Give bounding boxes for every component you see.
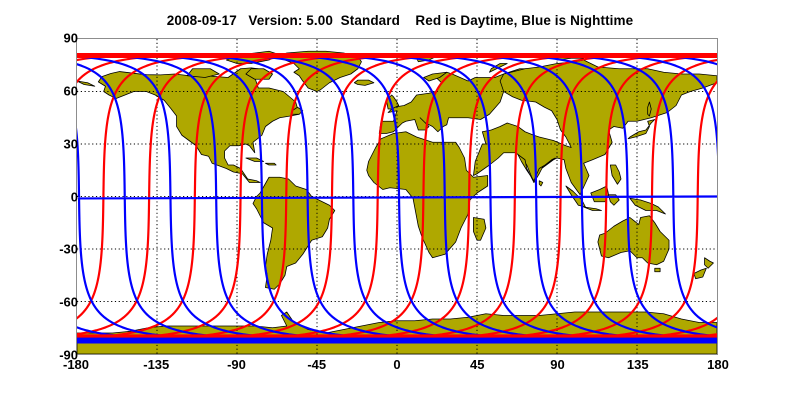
y-tick-label: -60	[59, 295, 78, 310]
x-tick-label: 180	[707, 357, 729, 372]
landmass-iceland	[354, 80, 374, 85]
x-tick-label: 135	[627, 357, 649, 372]
y-tick-label: 60	[64, 83, 78, 98]
x-tick-label: -135	[143, 357, 169, 372]
page-title: 2008-09-17 Version: 5.00 Standard Red is…	[0, 13, 800, 28]
ground-track-chart: 2008-09-17 Version: 5.00 Standard Red is…	[0, 0, 800, 400]
plot-svg	[77, 39, 717, 354]
landmass-sri-lanka	[539, 181, 543, 186]
x-tick-label: -90	[227, 357, 246, 372]
x-tick-label: 0	[393, 357, 400, 372]
y-tick-label: -30	[59, 242, 78, 257]
landmass-hispaniola	[265, 163, 276, 165]
y-tick-label: 90	[64, 31, 78, 46]
y-tick-label: 30	[64, 136, 78, 151]
landmass-honshu-south	[77, 81, 95, 86]
x-tick-label: -45	[307, 357, 326, 372]
landmass-indonesia-java	[584, 207, 602, 211]
landmass-new-zealand-s	[694, 268, 706, 279]
landmass-asia	[473, 60, 717, 195]
y-tick-label: 0	[71, 189, 78, 204]
landmass-new-zealand-n	[705, 258, 714, 269]
plot-area	[76, 38, 718, 355]
x-tick-label: -180	[63, 357, 89, 372]
landmass-new-guinea	[630, 198, 666, 214]
landmass-japan	[628, 120, 655, 139]
landmass-tasmania	[655, 268, 660, 272]
x-tick-label: 45	[470, 357, 484, 372]
landmass-philippines	[610, 165, 621, 184]
x-tick-label: 90	[550, 357, 564, 372]
landmass-madagascar	[473, 218, 485, 241]
landmass-australia	[598, 216, 669, 265]
